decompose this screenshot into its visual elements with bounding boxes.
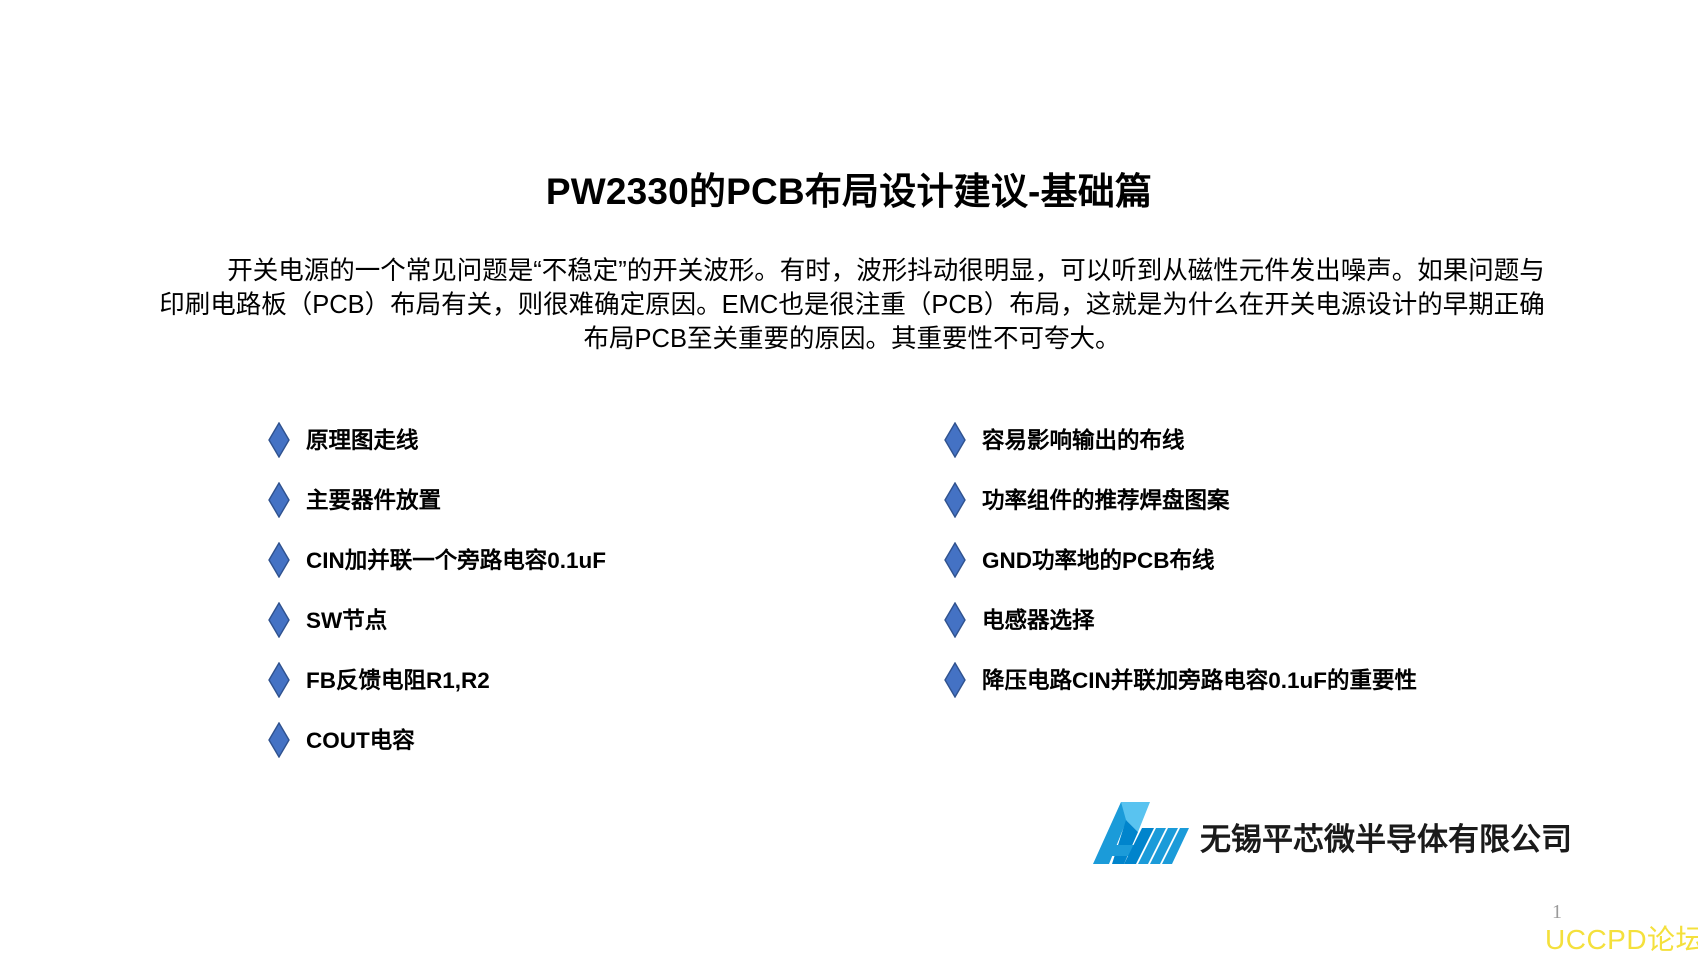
diamond-bullet-icon [944,602,966,638]
list-item[interactable]: COUT电容 [268,710,828,770]
list-item-label: 主要器件放置 [306,490,441,513]
diamond-bullet-icon [944,482,966,518]
diamond-bullet-icon [268,422,290,458]
slide-canvas: PW2330的PCB布局设计建议-基础篇 开关电源的一个常见问题是“不稳定”的开… [0,0,1698,955]
list-item-label: 电感器选择 [982,610,1095,633]
list-item[interactable]: SW节点 [268,590,828,650]
diamond-bullet-icon [268,482,290,518]
list-item-label: COUT电容 [306,730,415,753]
diamond-bullet-icon [268,722,290,758]
list-item-label: SW节点 [306,610,387,633]
diamond-bullet-icon [944,422,966,458]
diamond-bullet-icon [944,662,966,698]
diamond-bullet-icon [268,662,290,698]
list-item[interactable]: 容易影响输出的布线 [944,410,1584,470]
diamond-bullet-icon [268,602,290,638]
list-item-label: 容易影响输出的布线 [982,430,1185,453]
diamond-bullet-icon [268,542,290,578]
list-item-label: 功率组件的推荐焊盘图案 [982,490,1230,513]
bullet-column-right: 容易影响输出的布线 功率组件的推荐焊盘图案 GND功率地的PCB布线 电感器选择 [944,410,1584,710]
bullet-column-left: 原理图走线 主要器件放置 CIN加并联一个旁路电容0.1uF SW节点 [268,410,828,770]
list-item[interactable]: 降压电路CIN并联加旁路电容0.1uF的重要性 [944,650,1584,710]
list-item[interactable]: 主要器件放置 [268,470,828,530]
list-item[interactable]: CIN加并联一个旁路电容0.1uF [268,530,828,590]
watermark-label: UCCPD论坛 [1545,918,1698,958]
list-item[interactable]: 功率组件的推荐焊盘图案 [944,470,1584,530]
list-item-label: GND功率地的PCB布线 [982,550,1215,573]
list-item[interactable]: 原理图走线 [268,410,828,470]
list-item[interactable]: GND功率地的PCB布线 [944,530,1584,590]
list-item[interactable]: FB反馈电阻R1,R2 [268,650,828,710]
list-item-label: 原理图走线 [306,430,419,453]
company-logo-icon [1090,798,1190,868]
company-name-label: 无锡平芯微半导体有限公司 [1200,814,1572,859]
list-item-label: FB反馈电阻R1,R2 [306,670,490,693]
diamond-bullet-icon [944,542,966,578]
list-item[interactable]: 电感器选择 [944,590,1584,650]
company-logo-block: 无锡平芯微半导体有限公司 [1090,798,1572,868]
list-item-label: 降压电路CIN并联加旁路电容0.1uF的重要性 [982,670,1417,693]
list-item-label: CIN加并联一个旁路电容0.1uF [306,550,606,573]
